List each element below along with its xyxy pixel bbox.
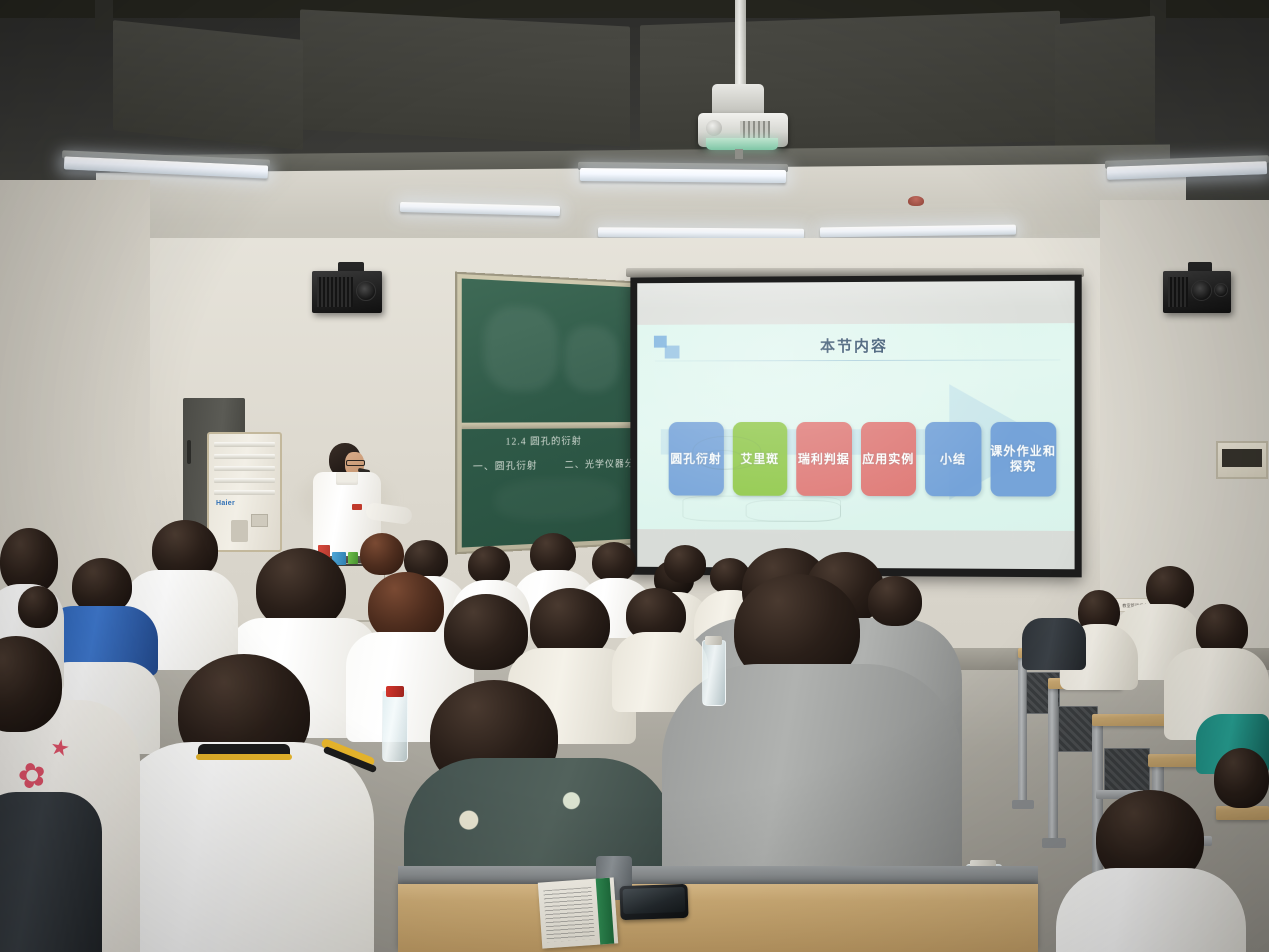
topic-box-ruilipanju[interactable]: 瑞利判据 [796,422,851,496]
smoke-detector-icon [908,196,924,206]
smartphone-screen[interactable] [623,887,686,914]
topic-box-ailiban[interactable]: 艾里斑 [732,422,787,496]
desk-foot [1042,838,1066,848]
desk-foot [1012,800,1034,809]
foreground-desk [398,884,1038,952]
water-bottle-2[interactable] [702,640,726,706]
projector-logo-icon [706,120,722,136]
topic-box-row: 圆孔衍射 艾里斑 瑞利判据 应用实例 小结 课外作业和探究 [657,420,1069,499]
chalk-title: 12.4 圆孔的衍射 [506,434,582,448]
topic-box-xiaojie[interactable]: 小结 [925,422,981,496]
ceiling-beam-left [95,0,113,30]
ppt-slide: 本节内容 圆孔衍射 艾里斑 瑞利判据 应用实例 [637,323,1074,531]
topic-box-label: 应用实例 [862,452,914,467]
water-bottle[interactable] [382,690,408,762]
open-textbook[interactable] [538,877,618,948]
podium-box-green [348,552,358,564]
topic-box-kewaizuoye[interactable]: 课外作业和探究 [990,422,1056,497]
desk-leg [1092,722,1103,892]
student-head [444,594,528,670]
right-wall-board-inner [1222,449,1262,467]
student-head [468,546,510,584]
desk-back-rail [398,866,1038,886]
student-head [18,586,58,628]
student-head [868,576,922,626]
right-wall-board [1216,441,1268,479]
wall-speaker-right [1163,271,1231,313]
blackboard: 12.4 圆孔的衍射 一、圆孔衍射 二、光学仪器分辨本领 [455,272,648,555]
soffit-tube-light-b [598,227,804,238]
student-torso-white-jacket [112,742,374,952]
slide-title: 本节内容 [637,334,1074,356]
projector-vent [740,121,770,139]
student-head [592,542,636,582]
student-head [664,545,706,583]
projection-screen: 本节内容 圆孔衍射 艾里斑 瑞利判据 应用实例 [630,275,1081,578]
bottle-cap-2 [705,636,722,645]
chalk-item-1: 一、圆孔衍射 [473,458,538,473]
classroom-photo: 教室管理规定 12.4 圆孔的衍射 一、圆孔衍射 二、光学仪器分辨本领 [0,0,1269,952]
glasses-icon [346,460,365,466]
desk-surface [1216,806,1269,820]
ac-brand-label: Haier [216,500,235,507]
topic-box-label: 课外作业和探究 [990,444,1056,474]
ceiling-beam-top [0,0,1269,18]
student-torso-dark [0,792,102,952]
student-head [360,533,404,575]
blackboard-surface: 12.4 圆孔的衍射 一、圆孔衍射 二、光学仪器分辨本领 [462,278,642,547]
jacket-trim-yellow [196,754,292,760]
screen-surface: 本节内容 圆孔衍射 艾里斑 瑞利判据 应用实例 [637,281,1074,570]
student-head [530,533,576,575]
student-torso [1022,618,1086,670]
projector-adjuster [735,149,743,159]
desk-leg [1048,684,1058,844]
projector-mount-pole [735,0,746,96]
wall-speaker-left [312,271,382,313]
topic-box-label: 艾里斑 [740,451,779,466]
textbook-spine [596,878,615,945]
ceiling-panel-a [300,9,630,146]
teacher-collar [336,472,358,485]
topic-box-label: 圆孔衍射 [670,451,721,466]
cabinet-handle [187,440,191,464]
textbook-text [543,887,595,942]
bottle-cap [386,686,404,697]
smartphone[interactable] [619,884,688,920]
ceiling-panel-d [1055,16,1155,155]
topic-box-label: 瑞利判据 [798,451,850,466]
desk-surface [1092,714,1174,726]
student-torso [1056,868,1246,952]
topic-box-yingyongshili[interactable]: 应用实例 [860,422,916,496]
teacher-badge [352,504,362,510]
air-conditioner: Haier [207,432,282,552]
topic-box-label: 小结 [940,452,966,467]
student-head [1214,748,1269,808]
ac-vent [231,520,248,542]
ac-control-panel[interactable] [251,514,268,527]
ceiling-panel-c [113,20,303,150]
slide-title-rule [655,359,1060,361]
ceiling-tube-light-center [580,168,786,183]
blackboard-rail [462,422,642,429]
topic-box-yuankongyanshe[interactable]: 圆孔衍射 [669,422,724,496]
